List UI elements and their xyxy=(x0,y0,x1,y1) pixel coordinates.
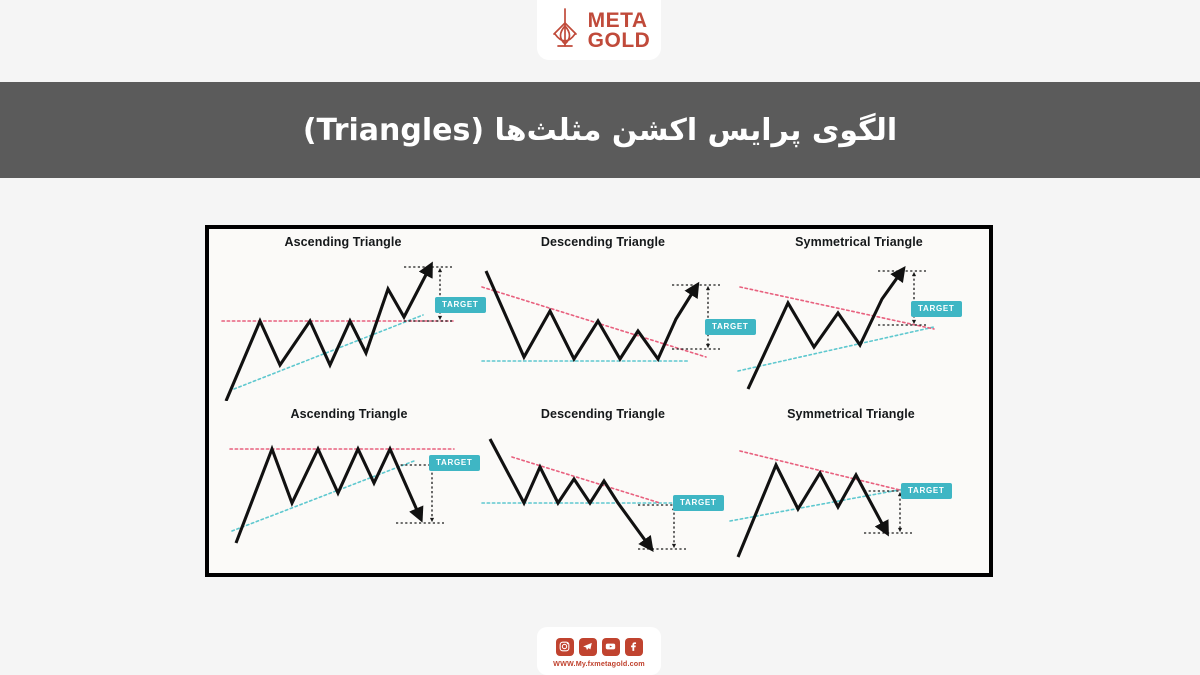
target-badge: TARGET xyxy=(429,455,480,471)
pattern-title: Ascending Triangle xyxy=(223,407,475,421)
social-links xyxy=(556,638,643,656)
pattern-drawing xyxy=(733,249,985,401)
pattern-cell-symmetrical-triangle-bullish: Symmetrical TriangleTARGET xyxy=(733,235,985,401)
price-path xyxy=(748,271,902,389)
pattern-cell-descending-triangle-bullish: Descending TriangleTARGET xyxy=(477,235,729,401)
pattern-title: Descending Triangle xyxy=(477,235,729,249)
pattern-title: Symmetrical Triangle xyxy=(725,407,977,421)
resistance-trendline xyxy=(482,287,706,357)
pattern-title: Ascending Triangle xyxy=(217,235,469,249)
brand-line-1: META xyxy=(588,11,651,30)
instagram-icon[interactable] xyxy=(556,638,574,656)
pattern-drawing xyxy=(477,249,729,401)
price-path xyxy=(226,267,430,401)
page-title-bar: الگوی پرایس اکشن مثلث‌ها (Triangles) xyxy=(0,82,1200,178)
pattern-drawing xyxy=(217,249,469,401)
youtube-icon[interactable] xyxy=(602,638,620,656)
page-title: الگوی پرایس اکشن مثلث‌ها (Triangles) xyxy=(303,113,897,148)
pattern-cell-symmetrical-triangle-bearish: Symmetrical TriangleTARGET xyxy=(725,407,977,573)
price-path xyxy=(236,449,420,543)
brand-line-2: GOLD xyxy=(588,31,651,50)
pattern-cell-ascending-triangle-bearish: Ascending TriangleTARGET xyxy=(223,407,475,573)
brand-wordmark: META GOLD xyxy=(588,11,651,50)
footer-card: WWW.My.fxmetagold.com xyxy=(537,627,661,675)
pattern-cell-ascending-triangle-bullish: Ascending TriangleTARGET xyxy=(217,235,469,401)
patterns-grid: Ascending TriangleTARGETDescending Trian… xyxy=(209,229,989,573)
meta-gold-mark-icon xyxy=(548,6,582,50)
telegram-icon[interactable] xyxy=(579,638,597,656)
pattern-title: Symmetrical Triangle xyxy=(733,235,985,249)
footer-url[interactable]: WWW.My.fxmetagold.com xyxy=(553,659,645,668)
brand-logo-card: META GOLD xyxy=(537,0,661,60)
pattern-title: Descending Triangle xyxy=(477,407,729,421)
pattern-cell-descending-triangle-bearish: Descending TriangleTARGET xyxy=(477,407,729,573)
patterns-panel: Ascending TriangleTARGETDescending Trian… xyxy=(205,225,993,577)
price-path xyxy=(738,465,886,557)
target-badge: TARGET xyxy=(901,483,952,499)
resistance-trendline xyxy=(740,287,934,329)
price-path xyxy=(486,271,696,359)
pattern-drawing xyxy=(223,421,475,573)
facebook-icon[interactable] xyxy=(625,638,643,656)
target-badge: TARGET xyxy=(673,495,724,511)
resistance-trendline xyxy=(740,451,904,491)
support-trendline xyxy=(232,461,414,531)
target-badge: TARGET xyxy=(911,301,962,317)
